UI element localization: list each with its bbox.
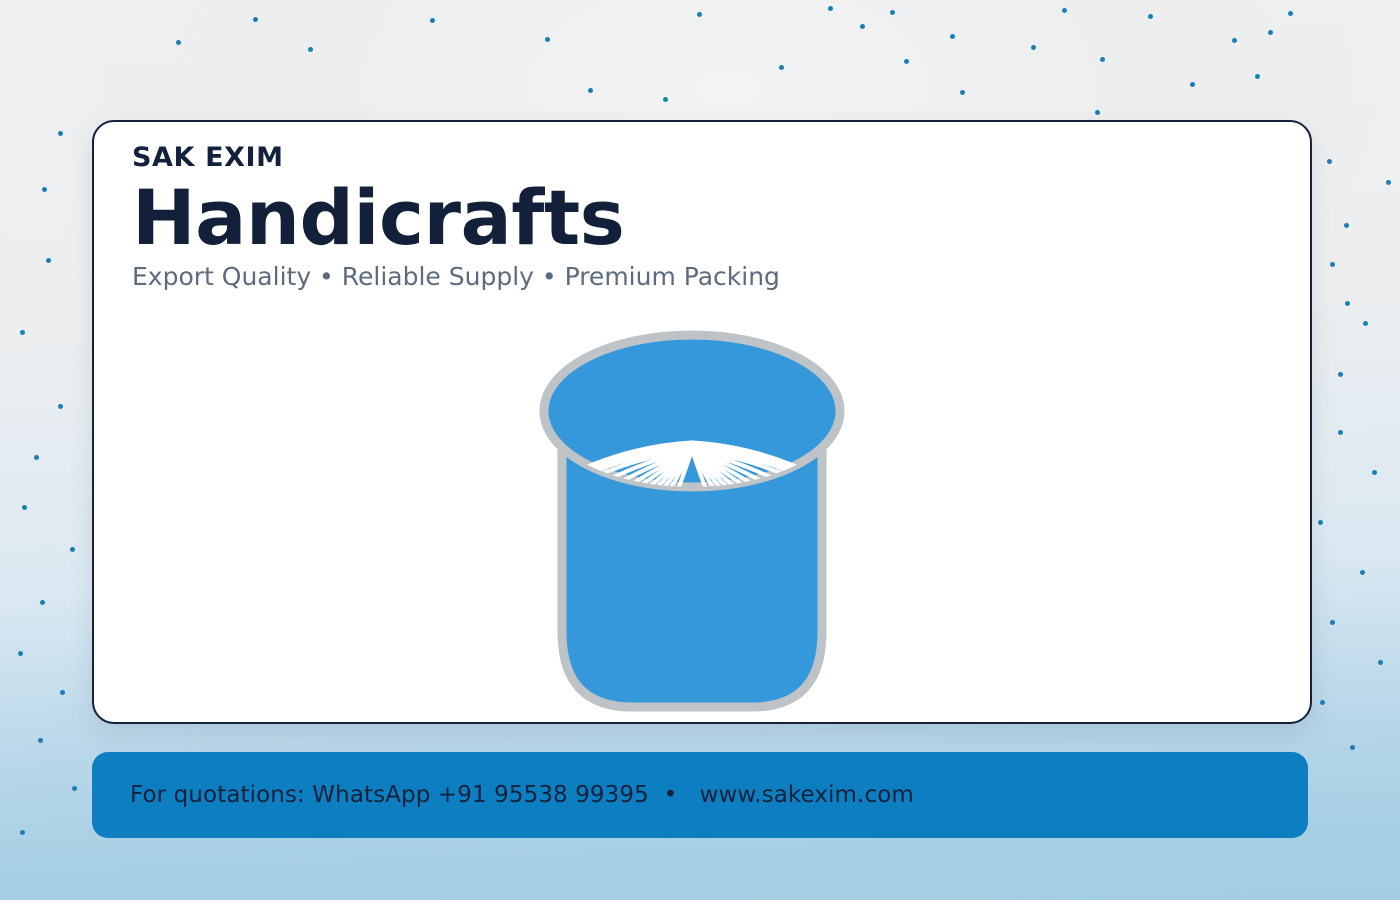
background-dot bbox=[430, 18, 435, 23]
background-dot bbox=[1148, 14, 1153, 19]
background-dot bbox=[1386, 180, 1391, 185]
contact-footer-bar: For quotations: WhatsApp +91 95538 99395… bbox=[92, 752, 1308, 838]
background-dot bbox=[1360, 570, 1365, 575]
background-dot bbox=[1330, 262, 1335, 267]
background-dot bbox=[860, 24, 865, 29]
background-dot bbox=[779, 65, 784, 70]
background-dot bbox=[60, 690, 65, 695]
background-dot bbox=[904, 59, 909, 64]
background-dot bbox=[22, 505, 27, 510]
background-dot bbox=[1318, 520, 1323, 525]
contact-info-text: For quotations: WhatsApp +91 95538 99395… bbox=[92, 782, 914, 808]
background-dot bbox=[1350, 745, 1355, 750]
main-card: SAK EXIM Handicrafts Export Quality • Re… bbox=[92, 120, 1312, 724]
background-dot bbox=[545, 37, 550, 42]
tagline: Export Quality • Reliable Supply • Premi… bbox=[132, 261, 1132, 294]
background-dot bbox=[72, 786, 77, 791]
background-dot bbox=[1338, 430, 1343, 435]
background-dot bbox=[1344, 223, 1349, 228]
background-dot bbox=[18, 651, 23, 656]
background-dot bbox=[1345, 301, 1350, 306]
brand-name: SAK EXIM bbox=[132, 142, 1132, 174]
background-dot bbox=[1372, 470, 1377, 475]
background-dot bbox=[176, 40, 181, 45]
page-title: Handicrafts bbox=[132, 178, 1132, 259]
background-dot bbox=[34, 455, 39, 460]
poster-canvas: SAK EXIM Handicrafts Export Quality • Re… bbox=[0, 0, 1400, 900]
woven-basket-icon bbox=[522, 332, 862, 724]
background-dot bbox=[828, 6, 833, 11]
background-dot bbox=[1031, 45, 1036, 50]
background-dot bbox=[1363, 321, 1368, 326]
background-dot bbox=[1232, 38, 1237, 43]
background-dot bbox=[1255, 74, 1260, 79]
background-dot bbox=[1095, 110, 1100, 115]
background-dot bbox=[588, 88, 593, 93]
background-dot bbox=[950, 34, 955, 39]
background-dot bbox=[40, 600, 45, 605]
background-dot bbox=[1330, 620, 1335, 625]
background-dot bbox=[1338, 372, 1343, 377]
background-dot bbox=[1100, 57, 1105, 62]
background-dot bbox=[70, 547, 75, 552]
background-dot bbox=[1327, 159, 1332, 164]
background-dot bbox=[38, 738, 43, 743]
background-dot bbox=[20, 330, 25, 335]
background-dot bbox=[1378, 660, 1383, 665]
background-dot bbox=[697, 12, 702, 17]
card-text-block: SAK EXIM Handicrafts Export Quality • Re… bbox=[132, 142, 1132, 293]
background-dot bbox=[960, 90, 965, 95]
background-dot bbox=[46, 258, 51, 263]
background-dot bbox=[890, 10, 895, 15]
background-dot bbox=[1268, 30, 1273, 35]
background-dot bbox=[58, 404, 63, 409]
background-dot bbox=[308, 47, 313, 52]
background-dot bbox=[1190, 82, 1195, 87]
background-dot bbox=[663, 97, 668, 102]
background-dot bbox=[1320, 700, 1325, 705]
background-dot bbox=[253, 17, 258, 22]
background-dot bbox=[42, 187, 47, 192]
background-dot bbox=[58, 131, 63, 136]
background-dot bbox=[20, 830, 25, 835]
background-dot bbox=[1062, 8, 1067, 13]
background-dot bbox=[1288, 11, 1293, 16]
